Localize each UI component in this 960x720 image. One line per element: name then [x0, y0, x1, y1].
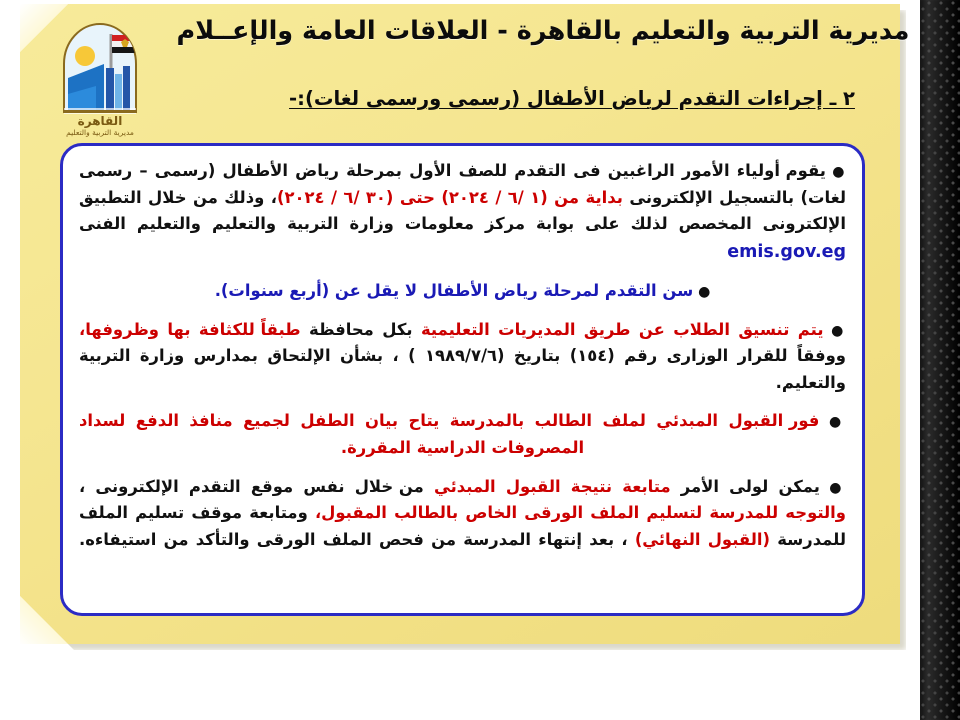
bullet-text-segment: فور القبول المبدئي لملف الطالب بالمدرسة …: [79, 411, 819, 457]
bullet-item: ● يمكن لولى الأمر متابعة نتيجة القبول ال…: [79, 474, 846, 554]
bullet-marker-icon: ●: [820, 480, 846, 496]
bullet-text-segment: ووفقاً للقرار الوزارى رقم (١٥٤) بتاريخ (…: [79, 346, 846, 392]
bullet-text-segment: من خلال نفس موقع التقدم الإلكترونى ،: [79, 477, 424, 496]
bullet-text-segment: يتم تنسيق الطلاب عن طريق المديريات التعل…: [413, 320, 824, 339]
section-subtitle-text: ٢ ـ إجراءات التقدم لرياض الأطفال (رسمى و…: [289, 87, 855, 110]
section-subtitle: ٢ ـ إجراءات التقدم لرياض الأطفال (رسمى و…: [212, 86, 932, 111]
logo-arabic-caption: مديرية التربية والتعليم: [66, 128, 134, 137]
logo-book-c: [123, 66, 130, 112]
bullet-text-segment: والتوجه للمدرسة لتسليم الملف الورقى الخا…: [315, 503, 846, 522]
content-card: ● يقوم أولياء الأمور الراغبين فى التقدم …: [60, 143, 865, 616]
bullet-text-segment: بكل محافظة: [301, 320, 413, 339]
bullet-marker-icon: ●: [693, 284, 710, 300]
logo-book-b: [115, 74, 122, 112]
bullet-text-segment: متابعة نتيجة القبول المبدئي: [424, 477, 671, 496]
bullet-marker-icon: ●: [823, 323, 846, 339]
bullet-text-segment: يمكن لولى الأمر: [671, 477, 820, 496]
bullet-text-segment: سن التقدم لمرحلة رياض الأطفال لا يقل عن …: [215, 281, 694, 300]
page-title: مديرية التربية والتعليم بالقاهرة - العلا…: [148, 16, 938, 48]
bullet-marker-icon: ●: [826, 164, 846, 180]
logo-book-a: [106, 68, 114, 112]
bullet-text-segment: بداية من (١ /٦ / ٢٠٢٤) حتى (٣٠ /٦ / ٢٠٢٤…: [277, 188, 623, 207]
cairo-education-directorate-logo: القاهرة مديرية التربية والتعليم: [48, 16, 153, 138]
bullet-text-segment: طبقاً للكثافة بها وظروفها،: [79, 320, 301, 339]
bullet-item: ● سن التقدم لمرحلة رياض الأطفال لا يقل ع…: [79, 278, 846, 305]
slide-page: القاهرة مديرية التربية والتعليم مديرية ا…: [0, 0, 960, 720]
bullet-text-segment: ، بعد إنتهاء المدرسة من فحص الملف الورقى…: [79, 530, 635, 549]
bullet-text-segment: (القبول النهائي): [635, 530, 770, 549]
bullet-item: ● يقوم أولياء الأمور الراغبين فى التقدم …: [79, 158, 846, 266]
emis-portal-link[interactable]: emis.gov.eg: [727, 242, 846, 262]
bullet-item: ● فور القبول المبدئي لملف الطالب بالمدرس…: [79, 408, 846, 461]
logo-base-line: [64, 110, 136, 113]
bullet-list: ● يقوم أولياء الأمور الراغبين فى التقدم …: [79, 158, 846, 553]
logo-arabic-name: القاهرة: [78, 114, 123, 128]
bullet-marker-icon: ●: [819, 414, 846, 430]
bullet-item: ● يتم تنسيق الطلاب عن طريق المديريات الت…: [79, 317, 846, 397]
logo-sun: [75, 46, 95, 66]
